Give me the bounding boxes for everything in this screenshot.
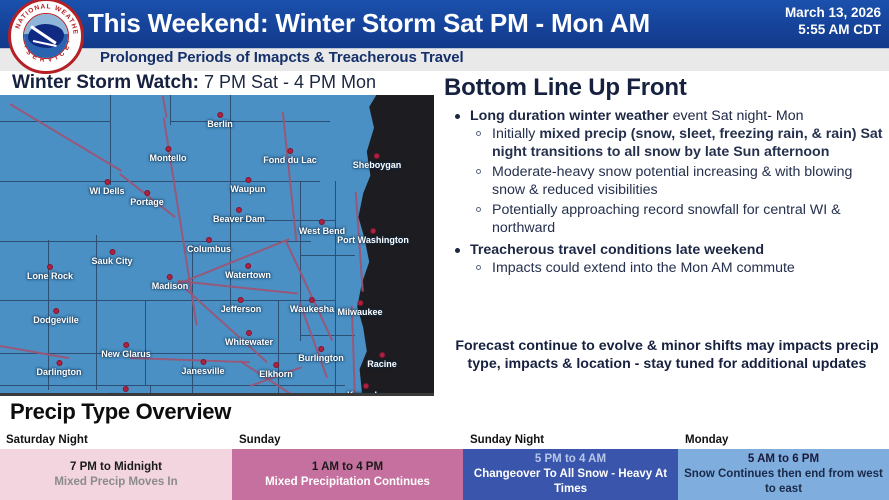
county-border xyxy=(145,300,146,386)
nws-seal-icon: NATIONAL WEATHER · S E R V I C E · xyxy=(8,0,84,74)
weather-graphic: This Weekend: Winter Storm Sat PM - Mon … xyxy=(0,0,889,500)
watch-label: Winter Storm Watch: xyxy=(12,72,199,93)
county-border xyxy=(48,240,49,390)
bluf-bullet-list: Long duration winter weather event Sat n… xyxy=(444,108,886,278)
precip-segment-time: 1 AM to 4 PM xyxy=(312,460,383,475)
precip-period-label: Saturday Night xyxy=(6,434,88,446)
bluf-bullet: Long duration winter weather event Sat n… xyxy=(452,108,886,125)
issue-date: March 13, 2026 xyxy=(731,4,881,21)
subheader-text: Prolonged Periods of Imapcts & Treachero… xyxy=(100,49,464,66)
bluf-bullet-bold: Long duration winter weather xyxy=(470,108,669,124)
bluf-bullet-bold: Treacherous travel conditions late weeke… xyxy=(470,242,764,258)
county-border xyxy=(110,95,111,185)
county-border xyxy=(200,385,345,386)
county-border xyxy=(335,181,336,393)
precip-period-label: Sunday xyxy=(239,434,281,446)
precip-segment-desc: Changeover To All Snow - Heavy At Times xyxy=(463,467,678,497)
bluf-sub-list: Initially mixed precip (snow, sleet, fre… xyxy=(452,126,886,237)
bluf-sub-bullet: Moderate-heavy snow potential increasing… xyxy=(474,164,886,199)
bluf-sub-bullet: Initially mixed precip (snow, sleet, fre… xyxy=(474,126,886,161)
precip-segment-desc: Mixed Precip Moves In xyxy=(54,475,177,490)
precip-overview-title: Precip Type Overview xyxy=(10,399,231,425)
bluf-sub-bullet: Impacts could extend into the Mon AM com… xyxy=(474,260,886,278)
precip-segment-time: 7 PM to Midnight xyxy=(70,460,162,475)
precip-segment[interactable]: 5 AM to 6 PMSnow Continues then end from… xyxy=(678,449,889,500)
bluf-sub-bullet: Potentially approaching record snowfall … xyxy=(474,202,886,237)
county-border xyxy=(170,95,171,125)
precip-segment-time: 5 AM to 6 PM xyxy=(748,452,819,467)
county-border xyxy=(230,95,231,305)
watch-area-map[interactable]: BerlinMontelloFond du LacSheboyganWI Del… xyxy=(0,95,434,396)
precip-period-label: Monday xyxy=(685,434,728,446)
issue-timestamp: March 13, 2026 5:55 AM CDT xyxy=(731,4,881,38)
bluf-title: Bottom Line Up Front xyxy=(444,74,886,102)
precip-segment[interactable]: 7 PM to MidnightMixed Precip Moves In xyxy=(0,449,232,500)
precip-segment[interactable]: 5 PM to 4 AMChangeover To All Snow - Hea… xyxy=(463,449,678,500)
county-border xyxy=(192,245,193,393)
precip-period-label: Sunday Night xyxy=(470,434,544,446)
bluf-bullet-rest: event Sat night- Mon xyxy=(669,108,804,124)
bluf-sub-list: Impacts could extend into the Mon AM com… xyxy=(452,260,886,278)
bluf-sub-bold: mixed precip (snow, sleet, freezing rain… xyxy=(492,126,883,160)
issue-time: 5:55 AM CDT xyxy=(731,21,881,38)
bluf-sub-pre: Potentially approaching record snowfall … xyxy=(492,202,841,236)
county-border xyxy=(300,181,301,341)
precip-segment-time: 5 PM to 4 AM xyxy=(535,452,606,467)
bluf-bullet: Treacherous travel conditions late weeke… xyxy=(452,242,886,259)
header-banner: This Weekend: Winter Storm Sat PM - Mon … xyxy=(0,0,889,48)
county-border xyxy=(0,121,110,122)
precip-segment[interactable]: 1 AM to 4 PMMixed Precipitation Continue… xyxy=(232,449,463,500)
page-title: This Weekend: Winter Storm Sat PM - Mon … xyxy=(88,2,728,44)
county-border xyxy=(150,385,151,396)
county-border xyxy=(170,121,330,122)
seal-emblem xyxy=(23,13,69,59)
county-border xyxy=(230,220,335,221)
bluf-sub-pre: Moderate-heavy snow potential increasing… xyxy=(492,164,852,198)
watch-headline: Winter Storm Watch: 7 PM Sat - 4 PM Mon xyxy=(12,72,376,94)
precip-segment-desc: Mixed Precipitation Continues xyxy=(265,475,430,490)
county-border xyxy=(278,300,279,395)
county-border xyxy=(96,235,97,390)
watch-times: 7 PM Sat - 4 PM Mon xyxy=(199,72,376,92)
bluf-sub-pre: Impacts could extend into the Mon AM com… xyxy=(492,260,795,276)
county-border xyxy=(0,181,120,182)
county-border xyxy=(300,255,355,256)
forecast-disclaimer: Forecast continue to evolve & minor shif… xyxy=(448,337,886,373)
city-name-text: Monroe xyxy=(110,393,143,396)
precip-segment-desc: Snow Continues then end from west to eas… xyxy=(678,467,889,497)
bluf-panel: Bottom Line Up Front Long duration winte… xyxy=(444,74,886,283)
county-border xyxy=(0,385,200,386)
county-border xyxy=(300,335,355,336)
bluf-sub-pre: Initially xyxy=(492,126,539,142)
